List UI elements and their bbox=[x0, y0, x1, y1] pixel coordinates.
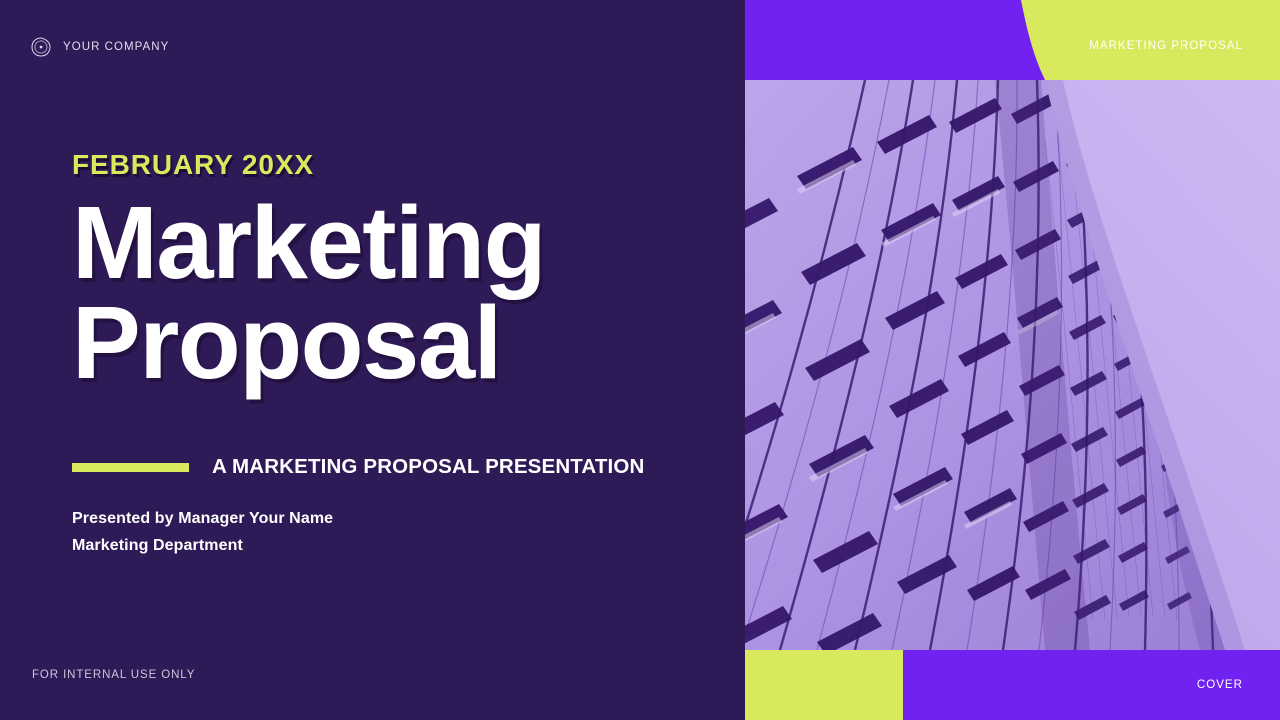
page-title-line-1: Marketing bbox=[72, 193, 722, 293]
brand-name: YOUR COMPANY bbox=[63, 41, 169, 53]
top-band: MARKETING PROPOSAL bbox=[745, 0, 1280, 80]
subtitle-row: A MARKETING PROPOSAL PRESENTATION bbox=[72, 455, 644, 479]
slide-left-panel: YOUR COMPANY FEBRUARY 20XX Marketing Pro… bbox=[0, 0, 745, 720]
brand-lockup: YOUR COMPANY bbox=[30, 36, 169, 58]
cover-photo bbox=[745, 80, 1280, 650]
slide-label-strip: COVER bbox=[903, 650, 1280, 720]
accent-bar bbox=[72, 463, 189, 472]
spiral-swirl-icon bbox=[30, 36, 52, 58]
headline-block: FEBRUARY 20XX Marketing Proposal bbox=[72, 150, 722, 393]
subtitle-text: A MARKETING PROPOSAL PRESENTATION bbox=[212, 455, 644, 479]
page-title-line-2: Proposal bbox=[72, 293, 722, 393]
internal-use-note: FOR INTERNAL USE ONLY bbox=[32, 669, 195, 681]
presentation-slide: YOUR COMPANY FEBRUARY 20XX Marketing Pro… bbox=[0, 0, 1280, 720]
bottom-bar: COVER bbox=[745, 650, 1280, 720]
presenter-name: Presented by Manager Your Name bbox=[72, 506, 333, 533]
header-label: MARKETING PROPOSAL bbox=[1089, 40, 1243, 52]
presenter-block: Presented by Manager Your Name Marketing… bbox=[72, 506, 333, 560]
slide-label: COVER bbox=[1197, 679, 1243, 691]
presenter-department: Marketing Department bbox=[72, 533, 333, 560]
slide-right-panel: MARKETING PROPOSAL bbox=[745, 0, 1280, 720]
date-eyebrow: FEBRUARY 20XX bbox=[72, 150, 722, 179]
bottom-accent-block bbox=[745, 650, 903, 720]
